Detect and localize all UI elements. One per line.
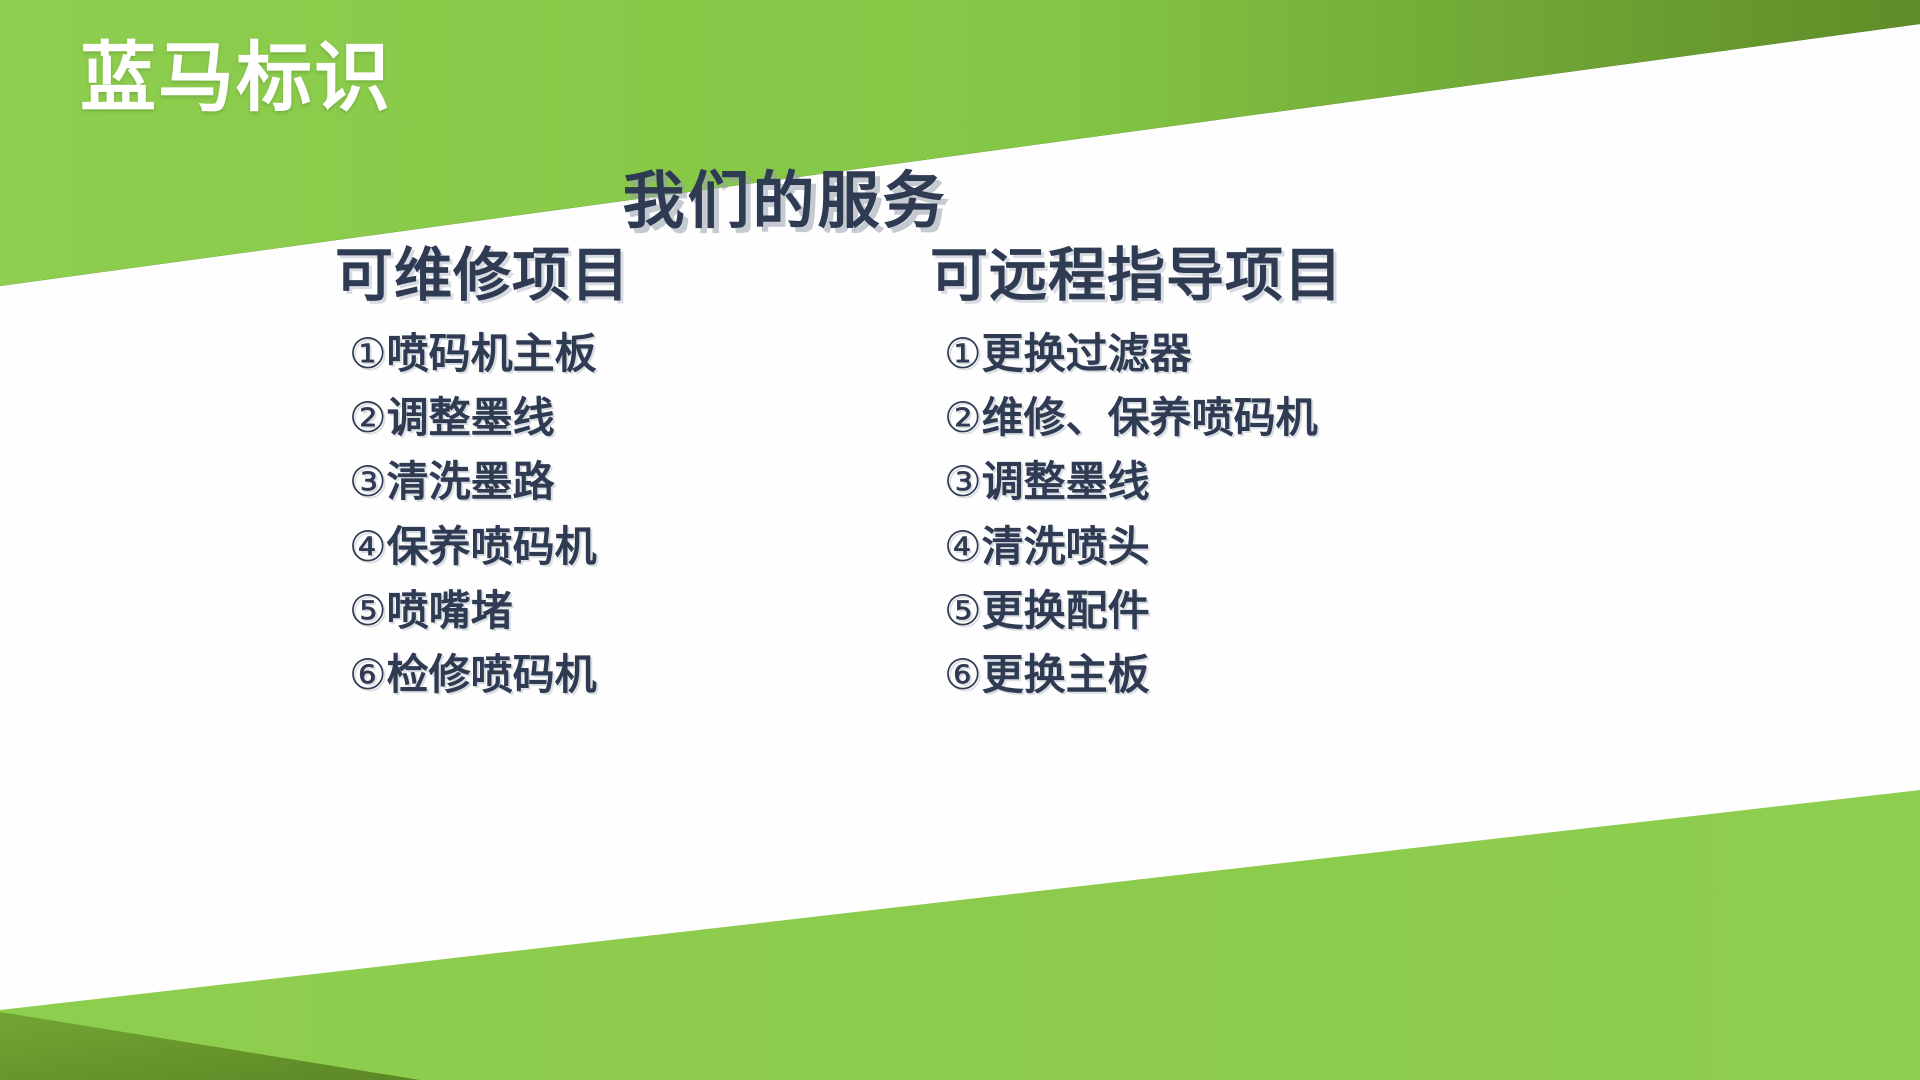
list-marker: ④ [944, 522, 982, 571]
list-item: ③调整墨线 [944, 450, 1343, 514]
list-label: 调整墨线 [387, 393, 555, 442]
list-item: ④清洗喷头 [944, 515, 1343, 579]
list-item: ④保养喷码机 [349, 515, 630, 579]
list-label: 喷嘴堵 [387, 586, 513, 635]
list-item: ⑤更换配件 [944, 579, 1343, 643]
list-label: 喷码机主板 [387, 329, 597, 378]
list-item: ②调整墨线 [349, 386, 630, 450]
list-label: 更换配件 [982, 586, 1150, 635]
list-item: ⑤喷嘴堵 [349, 579, 630, 643]
list-label: 调整墨线 [982, 457, 1150, 506]
column-title-remote-guidance: 可远程指导项目 [930, 244, 1343, 308]
list-label: 清洗墨路 [387, 457, 555, 506]
slide-canvas: 蓝马标识 我们的服务 可维修项目 ①喷码机主板 ②调整墨线 ③清洗墨路 ④保养喷… [0, 0, 1920, 1080]
list-marker: ③ [944, 457, 982, 506]
list-marker: ⑤ [944, 586, 982, 635]
brand-logo: 蓝马标识 [80, 38, 392, 118]
list-item: ②维修、保养喷码机 [944, 386, 1343, 450]
list-marker: ① [944, 329, 982, 378]
list-label: 保养喷码机 [387, 522, 597, 571]
list-marker: ③ [349, 457, 387, 506]
service-list-remote-guidance: ①更换过滤器 ②维修、保养喷码机 ③调整墨线 ④清洗喷头 ⑤更换配件 ⑥更换主板 [930, 322, 1343, 708]
list-marker: ④ [349, 522, 387, 571]
list-marker: ② [944, 393, 982, 442]
service-column-repair: 可维修项目 ①喷码机主板 ②调整墨线 ③清洗墨路 ④保养喷码机 ⑤喷嘴堵 ⑥检修… [335, 244, 630, 707]
list-marker: ⑥ [944, 650, 982, 699]
list-marker: ① [349, 329, 387, 378]
list-item: ①更换过滤器 [944, 322, 1343, 386]
list-label: 检修喷码机 [387, 650, 597, 699]
list-label: 维修、保养喷码机 [982, 393, 1318, 442]
list-marker: ⑤ [349, 586, 387, 635]
list-label: 清洗喷头 [982, 522, 1150, 571]
list-label: 更换主板 [982, 650, 1150, 699]
list-marker: ⑥ [349, 650, 387, 699]
column-title-repair: 可维修项目 [335, 244, 630, 308]
list-label: 更换过滤器 [982, 329, 1192, 378]
list-item: ①喷码机主板 [349, 322, 630, 386]
service-column-remote-guidance: 可远程指导项目 ①更换过滤器 ②维修、保养喷码机 ③调整墨线 ④清洗喷头 ⑤更换… [930, 244, 1343, 707]
list-marker: ② [349, 393, 387, 442]
list-item: ⑥更换主板 [944, 643, 1343, 707]
list-item: ③清洗墨路 [349, 450, 630, 514]
list-item: ⑥检修喷码机 [349, 643, 630, 707]
service-list-repair: ①喷码机主板 ②调整墨线 ③清洗墨路 ④保养喷码机 ⑤喷嘴堵 ⑥检修喷码机 [335, 322, 630, 708]
page-title: 我们的服务 [0, 150, 1570, 240]
